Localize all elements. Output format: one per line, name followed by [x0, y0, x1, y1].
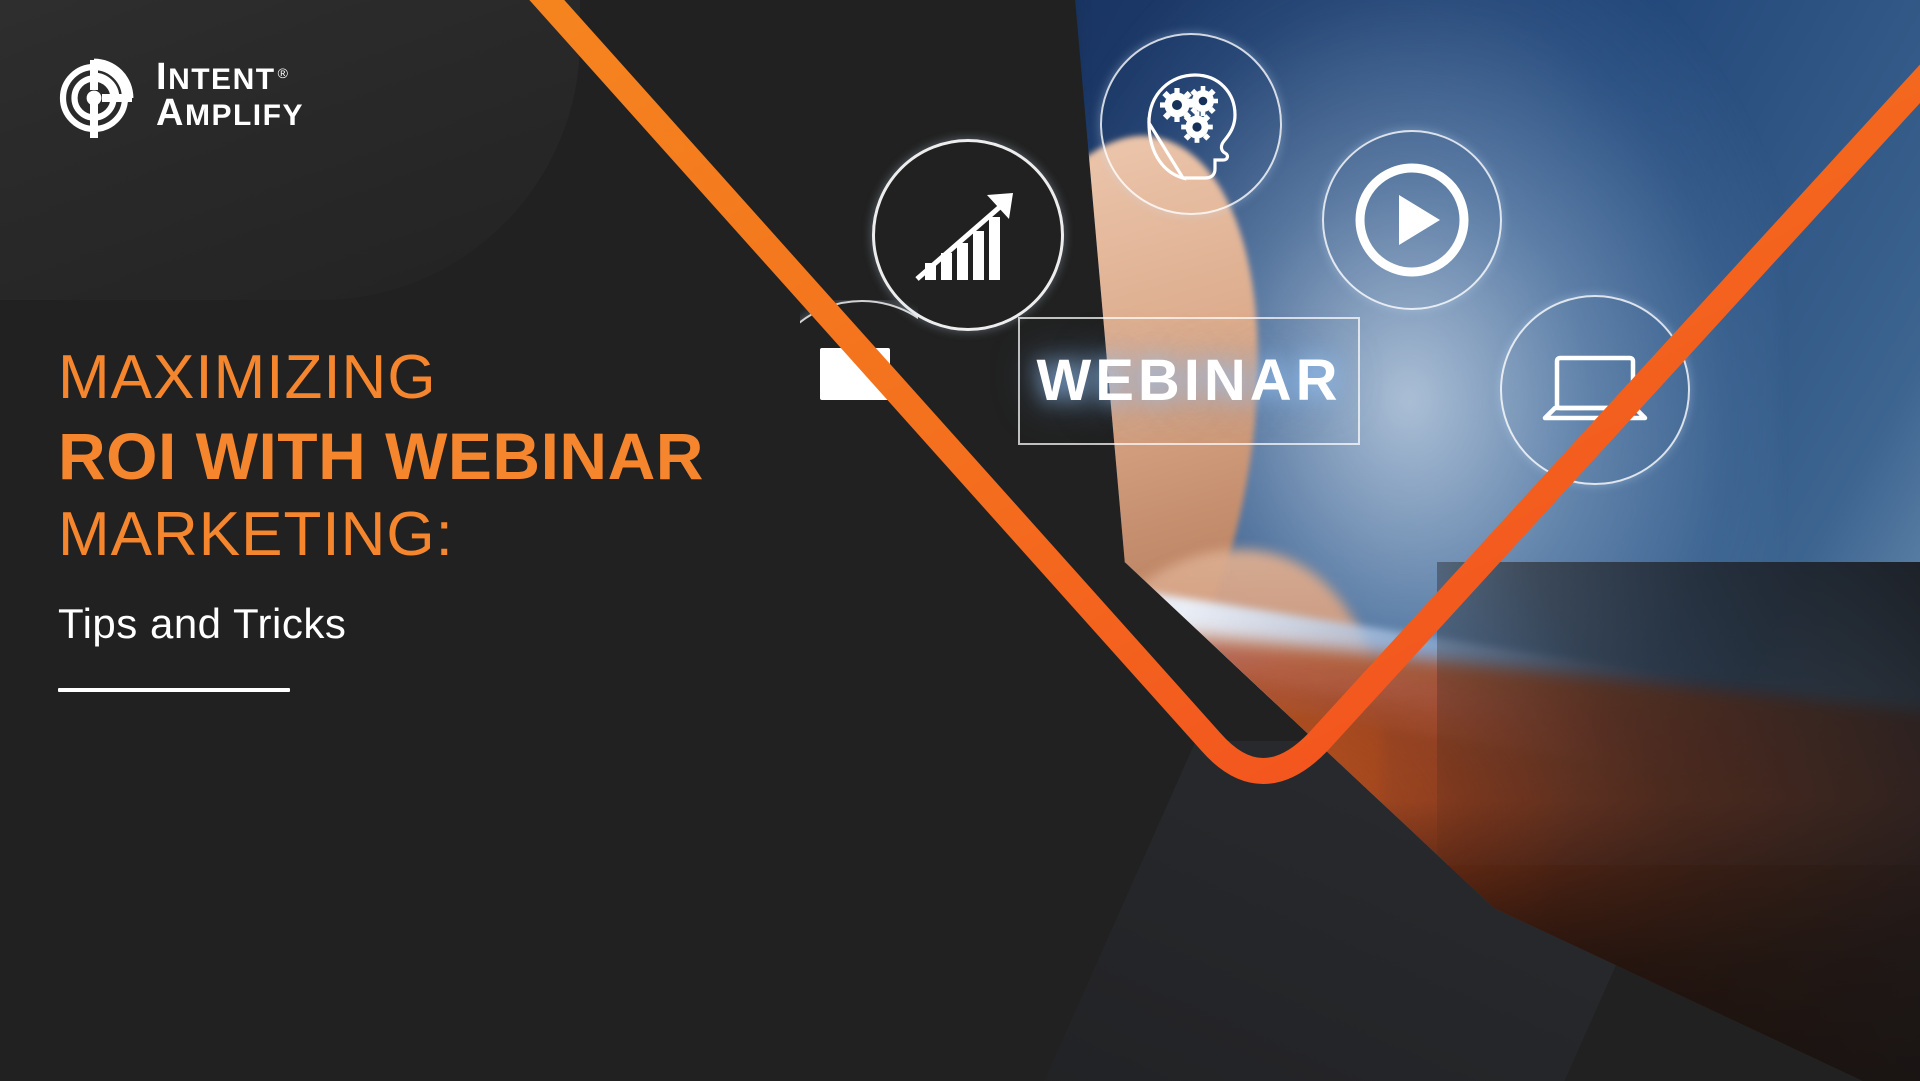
headline-line-3: MARKETING: — [58, 496, 878, 574]
headline-subtitle: Tips and Tricks — [58, 600, 878, 648]
headline-line-2: ROI WITH WEBINAR — [58, 416, 878, 497]
registered-trademark-symbol: ® — [278, 65, 290, 81]
brand-wordmark-line2: AMPLIFY — [156, 96, 304, 132]
radar-target-icon — [58, 52, 138, 140]
headline-line-1: MAXIMIZING — [58, 340, 878, 416]
brand-wordmark-line1: INTENT® — [156, 60, 304, 96]
webinar-label-text: WEBINAR — [1036, 352, 1341, 410]
play-button-glyph — [1322, 130, 1502, 310]
banner-root: WEBINAR — [0, 0, 1920, 1081]
wordmark-amplify-rest: MPLIFY — [185, 99, 304, 132]
brand-logo[interactable]: INTENT® AMPLIFY — [58, 52, 304, 140]
wordmark-a-cap: A — [156, 92, 185, 134]
head-gears-icon — [1100, 33, 1282, 215]
play-button-icon — [1322, 130, 1502, 310]
laptop-glyph — [1500, 295, 1690, 485]
headline-block: MAXIMIZING ROI WITH WEBINAR MARKETING: T… — [58, 340, 878, 692]
laptop-icon — [1500, 295, 1690, 485]
brand-wordmark: INTENT® AMPLIFY — [156, 60, 304, 131]
headline-divider — [58, 688, 290, 692]
webinar-label-box: WEBINAR — [1018, 317, 1360, 445]
head-gears-glyph — [1100, 33, 1282, 215]
